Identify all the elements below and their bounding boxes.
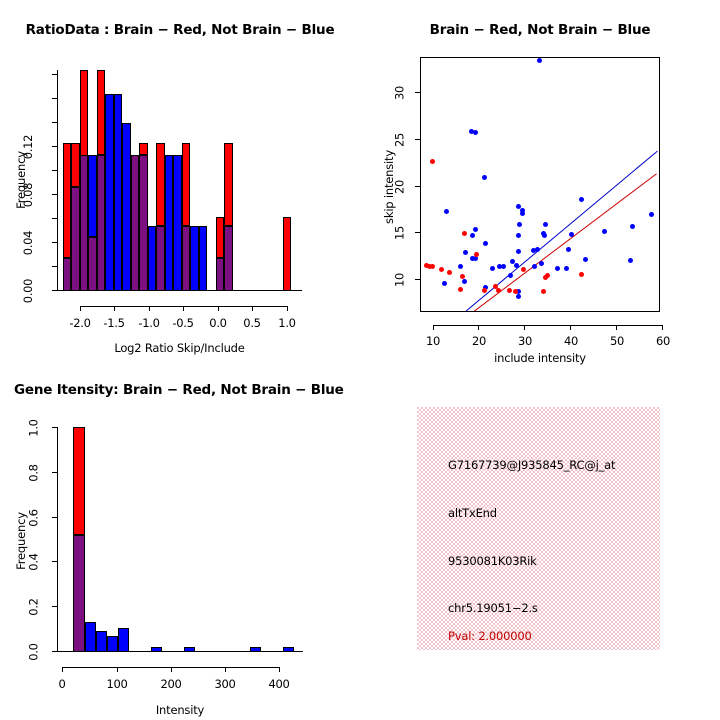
scatter-point-blue bbox=[555, 266, 560, 271]
ratio-x-ticklabel: 1.0 bbox=[267, 316, 307, 330]
scatter-x-axis bbox=[433, 325, 663, 326]
bar-blue bbox=[165, 155, 173, 291]
scatter-point-blue bbox=[490, 266, 495, 271]
bar-blue bbox=[105, 94, 114, 291]
bar-purple bbox=[156, 226, 165, 291]
scatter-x-ticklabel: 20 bbox=[464, 334, 494, 348]
ratio-y-tick bbox=[52, 122, 57, 123]
bar-purple bbox=[63, 258, 71, 291]
bar-blue bbox=[88, 155, 97, 237]
ratio-histogram-title: RatioData : Brain − Red, Not Brain − Blu… bbox=[0, 22, 360, 38]
gene-histogram-title: Gene Itensity: Brain − Red, Not Brain − … bbox=[0, 382, 360, 398]
scatter-plot-frame bbox=[420, 57, 660, 312]
ratio-y-tick bbox=[52, 170, 57, 171]
probe-id-text: G7167739@J935845_RC@j_at bbox=[448, 458, 615, 472]
gene-y-ticklabel: 1.0 bbox=[27, 411, 41, 446]
scatter-x-tick bbox=[524, 325, 525, 330]
bar-red bbox=[182, 143, 190, 226]
gene-x-tick bbox=[171, 667, 172, 672]
scatter-point-blue bbox=[539, 261, 544, 266]
scatter-point-red bbox=[439, 267, 444, 272]
gene-x-tick bbox=[117, 667, 118, 672]
gene-x-axis-title: Intensity bbox=[57, 703, 303, 717]
gene-y-ticklabel: 0.0 bbox=[27, 635, 41, 670]
bar-purple bbox=[224, 226, 233, 291]
gene-bar-purple bbox=[73, 535, 85, 652]
bar-blue bbox=[148, 226, 156, 291]
ratio-baseline bbox=[57, 290, 302, 291]
scatter-title: Brain − Red, Not Brain − Blue bbox=[360, 22, 720, 38]
bar-red bbox=[156, 143, 165, 226]
bar-blue bbox=[114, 94, 122, 291]
scatter-point-blue bbox=[444, 209, 449, 214]
scatter-x-tick bbox=[433, 325, 434, 330]
scatter-x-ticklabel: 30 bbox=[510, 334, 540, 348]
gene-bar-blue bbox=[85, 622, 96, 652]
scatter-point-red bbox=[462, 231, 467, 236]
gene-x-ticklabel: 200 bbox=[156, 677, 186, 691]
bar-blue bbox=[173, 155, 182, 291]
scatter-point-blue bbox=[483, 241, 488, 246]
scatter-point-blue bbox=[463, 250, 468, 255]
scatter-y-axis-title: skip intensity bbox=[382, 142, 396, 232]
ratio-x-tick bbox=[149, 306, 150, 311]
scatter-point-red bbox=[513, 289, 518, 294]
scatter-y-tick bbox=[415, 279, 420, 280]
gene-y-tick bbox=[52, 517, 57, 518]
gene-x-ticklabel: 100 bbox=[102, 677, 132, 691]
ratio-y-tick bbox=[52, 218, 57, 219]
gene-bar-blue bbox=[118, 628, 129, 652]
ratio-y-axis bbox=[57, 70, 58, 290]
scatter-x-tick bbox=[478, 325, 479, 330]
scatter-point-blue bbox=[566, 247, 571, 252]
panel-gene-intensity-histogram: Gene Itensity: Brain − Red, Not Brain − … bbox=[0, 360, 360, 720]
probe-info-background: G7167739@J935845_RC@j_at altTxEnd 953008… bbox=[417, 407, 660, 650]
bar-red bbox=[97, 70, 105, 155]
ratio-y-axis-title: Frequency bbox=[14, 135, 28, 225]
bar-red bbox=[283, 217, 291, 291]
gene-x-ticklabel: 300 bbox=[210, 677, 240, 691]
ratio-x-axis-title: Log2 Ratio Skip/Include bbox=[57, 341, 302, 355]
scatter-x-ticklabel: 10 bbox=[418, 334, 448, 348]
bar-red bbox=[71, 143, 80, 187]
bar-blue bbox=[190, 226, 199, 291]
ratio-y-tick bbox=[52, 242, 57, 243]
bar-purple bbox=[182, 226, 190, 291]
scatter-point-blue bbox=[470, 233, 475, 238]
gene-y-ticklabel: 0.4 bbox=[27, 545, 41, 580]
scatter-point-blue bbox=[543, 222, 548, 227]
gene-y-tick bbox=[52, 427, 57, 428]
ratio-y-tick bbox=[52, 74, 57, 75]
gene-bar-blue bbox=[107, 636, 118, 652]
ratio-x-tick bbox=[114, 306, 115, 311]
gene-y-axis-title: Frequency bbox=[14, 496, 28, 586]
gene-y-tick bbox=[52, 472, 57, 473]
gene-y-ticklabel: 0.2 bbox=[27, 590, 41, 625]
ratio-y-tick bbox=[52, 266, 57, 267]
ratio-y-tick bbox=[52, 98, 57, 99]
gene-x-ticklabel: 0 bbox=[47, 677, 77, 691]
scatter-point-blue bbox=[517, 222, 522, 227]
ratio-x-tick bbox=[218, 306, 219, 311]
bar-purple bbox=[131, 155, 139, 291]
scatter-point-blue bbox=[541, 231, 546, 236]
pval-text: Pval: 2.000000 bbox=[448, 629, 532, 643]
gene-x-ticklabel: 400 bbox=[264, 677, 294, 691]
gene-x-tick bbox=[279, 667, 280, 672]
gene-symbol-text: 9530081K03Rik bbox=[448, 554, 537, 568]
bar-blue bbox=[199, 226, 207, 291]
scatter-point-blue bbox=[520, 211, 525, 216]
scatter-point-blue bbox=[473, 130, 478, 135]
gene-bar-red bbox=[73, 427, 85, 535]
scatter-point-blue bbox=[458, 264, 463, 269]
scatter-point-blue bbox=[537, 58, 542, 63]
scatter-x-ticklabel: 60 bbox=[648, 334, 678, 348]
scatter-y-tick bbox=[415, 92, 420, 93]
ratio-x-ticklabel: -0.5 bbox=[163, 316, 203, 330]
scatter-point-red bbox=[482, 288, 487, 293]
scatter-point-blue bbox=[535, 247, 540, 252]
bar-purple bbox=[97, 155, 105, 291]
scatter-point-blue bbox=[482, 175, 487, 180]
scatter-point-blue bbox=[602, 229, 607, 234]
scatter-point-blue bbox=[649, 212, 654, 217]
bar-purple bbox=[71, 187, 80, 291]
scatter-point-blue bbox=[473, 227, 478, 232]
scatter-y-ticklabel: 10 bbox=[393, 268, 407, 293]
scatter-point-blue bbox=[516, 233, 521, 238]
scatter-point-red bbox=[430, 159, 435, 164]
bar-purple bbox=[216, 258, 224, 291]
scatter-point-blue bbox=[532, 264, 537, 269]
scatter-x-ticklabel: 50 bbox=[602, 334, 632, 348]
scatter-point-red bbox=[507, 288, 512, 293]
scatter-y-ticklabel: 30 bbox=[393, 81, 407, 106]
scatter-point-red bbox=[579, 272, 584, 277]
scatter-point-red bbox=[521, 267, 526, 272]
bar-red bbox=[224, 143, 233, 226]
scatter-point-blue bbox=[442, 281, 447, 286]
scatter-point-red bbox=[474, 252, 479, 257]
bar-purple bbox=[88, 237, 97, 291]
ratio-x-tick bbox=[80, 306, 81, 311]
scatter-point-blue bbox=[579, 197, 584, 202]
ratio-y-tick bbox=[52, 194, 57, 195]
ratio-y-ticklabel: 0.00 bbox=[21, 271, 35, 311]
scatter-x-tick bbox=[570, 325, 571, 330]
ratio-y-ticklabel: 0.04 bbox=[21, 223, 35, 263]
scatter-point-red bbox=[447, 270, 452, 275]
scatter-point-blue bbox=[569, 232, 574, 237]
panel-probe-info: G7167739@J935845_RC@j_at altTxEnd 953008… bbox=[360, 360, 720, 720]
scatter-y-tick bbox=[415, 139, 420, 140]
ratio-x-tick bbox=[287, 306, 288, 311]
gene-y-ticklabel: 0.6 bbox=[27, 501, 41, 536]
scatter-point-blue bbox=[462, 279, 467, 284]
scatter-x-ticklabel: 40 bbox=[556, 334, 586, 348]
gene-x-tick bbox=[62, 667, 63, 672]
gene-y-ticklabel: 0.8 bbox=[27, 456, 41, 491]
locus-text: chr5.19051−2.s bbox=[448, 601, 538, 615]
bar-red bbox=[216, 217, 224, 258]
fit-line-blue bbox=[463, 151, 658, 312]
scatter-point-blue bbox=[501, 264, 506, 269]
scatter-point-blue bbox=[508, 273, 513, 278]
scatter-point-red bbox=[430, 264, 435, 269]
gene-y-axis bbox=[57, 427, 58, 651]
gene-y-tick bbox=[52, 606, 57, 607]
event-type-text: altTxEnd bbox=[448, 506, 497, 520]
scatter-point-blue bbox=[516, 249, 521, 254]
scatter-y-tick bbox=[415, 186, 420, 187]
scatter-point-red bbox=[458, 287, 463, 292]
ratio-x-tick bbox=[252, 306, 253, 311]
ratio-y-tick bbox=[52, 146, 57, 147]
scatter-point-blue bbox=[628, 258, 633, 263]
ratio-x-tick bbox=[183, 306, 184, 311]
scatter-x-tick bbox=[616, 325, 617, 330]
gene-x-tick bbox=[225, 667, 226, 672]
scatter-y-tick bbox=[415, 232, 420, 233]
bar-red bbox=[63, 143, 71, 258]
scatter-point-red bbox=[541, 289, 546, 294]
gene-y-tick bbox=[52, 561, 57, 562]
bar-blue bbox=[122, 123, 131, 291]
scatter-point-blue bbox=[516, 294, 521, 299]
bar-red bbox=[139, 143, 148, 155]
bar-purple bbox=[139, 155, 148, 291]
panel-ratio-histogram: RatioData : Brain − Red, Not Brain − Blu… bbox=[0, 0, 360, 360]
gene-bar-blue bbox=[96, 631, 107, 652]
scatter-point-blue bbox=[630, 224, 635, 229]
bar-purple bbox=[80, 155, 88, 291]
scatter-x-tick bbox=[662, 325, 663, 330]
panel-intensity-scatter: Brain − Red, Not Brain − Blue bbox=[360, 0, 720, 360]
scatter-point-blue bbox=[514, 263, 519, 268]
scatter-point-blue bbox=[564, 266, 569, 271]
gene-baseline bbox=[57, 651, 303, 652]
scatter-point-red bbox=[545, 273, 550, 278]
ratio-x-ticklabel: -1.5 bbox=[94, 316, 134, 330]
scatter-point-blue bbox=[583, 257, 588, 262]
ratio-x-ticklabel: 0.5 bbox=[232, 316, 272, 330]
scatter-point-red bbox=[460, 274, 465, 279]
